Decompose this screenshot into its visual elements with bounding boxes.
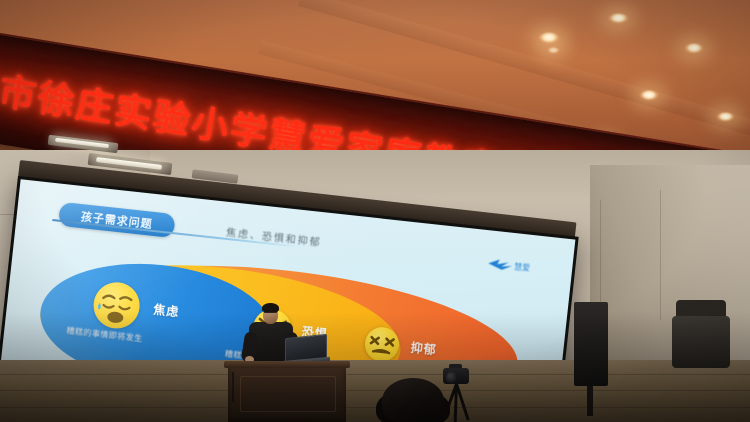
presenter-glasses [264,312,277,316]
podium-top-surface [224,361,350,368]
stage-floor [0,360,750,422]
floor-plank-seam [0,374,750,375]
floor-plank-seam [0,407,750,408]
zone-label-anxiety: 焦虑 [153,300,181,320]
presentation-brand-logo-icon: 慧爱 [486,256,551,276]
wall-seam [660,190,661,320]
conference-hall-photo: 州市徐庄实验小学慧爱家庭教育指导站启动仪式暨家长委员会成立大会 孩子需求问题 焦… [0,0,750,422]
slide-subtitle: 焦虑、恐惧和抑郁 [225,224,322,249]
ceiling-downlight [684,43,704,54]
audience-member-head [382,378,444,422]
podium-cable [232,372,234,402]
ceiling-downlight [547,47,560,54]
emoji-dizzy-x-eyes-face [363,326,400,363]
ceiling-downlight [716,112,735,122]
loudspeaker-stand [587,386,593,416]
camera-lens [446,372,457,383]
emoji-weary-sweat-face [91,280,142,331]
side-chair [672,316,730,368]
zone-label-depression: 抑郁 [410,338,438,358]
podium-front-panel [240,376,336,412]
ceiling-downlight [639,90,659,101]
ceiling-downlight [538,32,560,44]
floor-plank-seam [0,390,750,391]
svg-text:慧爱: 慧爱 [514,261,531,273]
ceiling-downlight [608,13,629,24]
slide-title-pill: 孩子需求问题 [58,202,176,238]
stage-loudspeaker [574,302,608,386]
